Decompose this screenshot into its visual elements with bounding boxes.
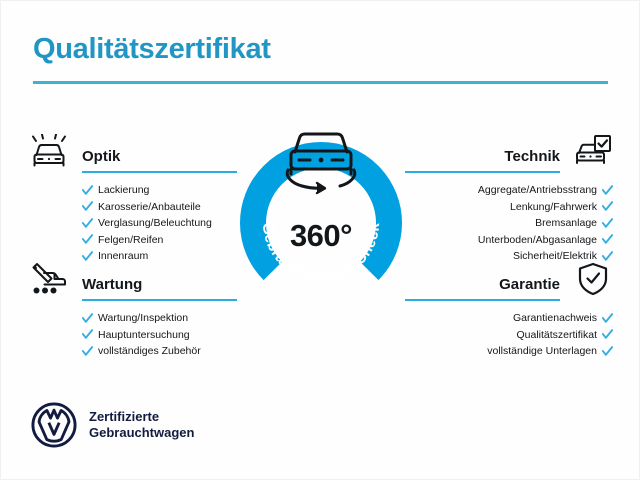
car-shine-icon [27, 131, 71, 171]
shield-check-icon [571, 259, 615, 299]
list-item: vollständiges Zubehör [82, 343, 237, 360]
checklist: Wartung/Inspektion Hauptuntersuchung vol… [82, 310, 237, 360]
item-label: vollständige Unterlagen [487, 343, 597, 360]
section-header: Garantie [405, 259, 615, 299]
section-title: Optik [82, 148, 120, 165]
list-item: Wartung/Inspektion [82, 310, 237, 327]
item-label: Felgen/Reifen [98, 232, 163, 249]
check-icon [82, 201, 93, 212]
section-header: Optik [27, 131, 237, 171]
badge-360-gebrauchtwagen-check: Gebrauchtwagen-Check 360° [229, 113, 413, 313]
checklist: Lackierung Karosserie/Anbauteile Verglas… [82, 182, 237, 265]
check-icon [602, 201, 613, 212]
check-icon [82, 346, 93, 357]
list-item: Bremsanlage [405, 215, 613, 232]
section-wartung: Wartung Wartung/Inspektion Hauptuntersuc… [27, 259, 237, 376]
section-divider [405, 171, 560, 173]
check-icon [82, 218, 93, 229]
list-item: Lenkung/Fahrwerk [405, 199, 613, 216]
section-divider [405, 299, 560, 301]
check-icon [602, 185, 613, 196]
item-label: Karosserie/Anbauteile [98, 199, 201, 216]
footer-line-1: Zertifizierte [89, 409, 159, 424]
list-item: vollständige Unterlagen [405, 343, 613, 360]
section-title: Technik [504, 148, 560, 165]
check-icon [602, 329, 613, 340]
checklist: Aggregate/Antriebsstrang Lenkung/Fahrwer… [405, 182, 613, 265]
footer-line-2: Gebrauchtwagen [89, 425, 194, 440]
car-service-wrench-icon [27, 259, 71, 299]
section-header: Technik [405, 131, 615, 171]
item-label: Hauptuntersuchung [98, 327, 190, 344]
section-title: Garantie [499, 276, 560, 293]
list-item: Qualitätszertifikat [405, 327, 613, 344]
list-item: Felgen/Reifen [82, 232, 237, 249]
check-icon [602, 234, 613, 245]
check-icon [82, 185, 93, 196]
check-icon [602, 218, 613, 229]
check-icon [602, 346, 613, 357]
list-item: Unterboden/Abgasanlage [405, 232, 613, 249]
item-label: vollständiges Zubehör [98, 343, 201, 360]
check-icon [82, 234, 93, 245]
footer-logo-text: Zertifizierte Gebrauchtwagen [89, 409, 194, 441]
car-checkbox-icon [571, 131, 615, 171]
list-item: Verglasung/Beleuchtung [82, 215, 237, 232]
item-label: Verglasung/Beleuchtung [98, 215, 212, 232]
section-divider [82, 171, 237, 173]
list-item: Lackierung [82, 182, 237, 199]
certificate-page: Qualitätszertifikat Optik [0, 0, 640, 480]
section-header: Wartung [27, 259, 237, 299]
list-item: Karosserie/Anbauteile [82, 199, 237, 216]
item-label: Garantienachweis [513, 310, 597, 327]
title-divider [33, 81, 608, 84]
section-title: Wartung [82, 276, 142, 293]
vw-logo-icon [31, 402, 77, 448]
item-label: Unterboden/Abgasanlage [478, 232, 597, 249]
check-icon [602, 313, 613, 324]
item-label: Qualitätszertifikat [516, 327, 597, 344]
item-label: Aggregate/Antriebsstrang [478, 182, 597, 199]
list-item: Hauptuntersuchung [82, 327, 237, 344]
check-icon [82, 313, 93, 324]
section-garantie: Garantie Garantienachweis Qualitätszerti… [405, 259, 615, 376]
list-item: Garantienachweis [405, 310, 613, 327]
item-label: Bremsanlage [535, 215, 597, 232]
item-label: Lenkung/Fahrwerk [510, 199, 597, 216]
footer-logo-block: Zertifizierte Gebrauchtwagen [31, 402, 194, 448]
section-divider [82, 299, 237, 301]
check-icon [82, 329, 93, 340]
list-item: Aggregate/Antriebsstrang [405, 182, 613, 199]
item-label: Wartung/Inspektion [98, 310, 188, 327]
badge-center-label: 360° [229, 218, 413, 254]
item-label: Lackierung [98, 182, 149, 199]
checklist: Garantienachweis Qualitätszertifikat vol… [405, 310, 613, 360]
page-title: Qualitätszertifikat [33, 33, 271, 66]
